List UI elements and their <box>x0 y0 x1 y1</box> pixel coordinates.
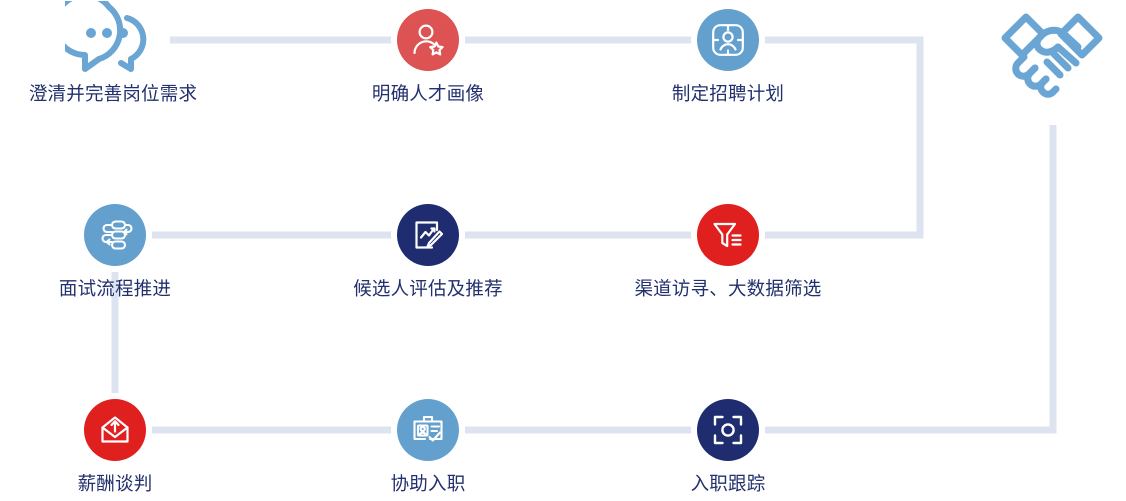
flow-node-label: 候选人评估及推荐 <box>318 278 538 300</box>
id-card-check-icon <box>410 412 446 448</box>
badge-talent-profile <box>391 3 465 77</box>
person-star-icon <box>409 21 447 59</box>
disc-onboarding-tracking <box>697 399 759 461</box>
disc-salary-negotiation <box>84 399 146 461</box>
badge-interview-process <box>78 198 152 272</box>
focus-target-icon <box>710 412 746 448</box>
chat-bubbles-icon <box>65 1 161 79</box>
flow-node-label: 协助入职 <box>318 473 538 495</box>
badge-candidate-evaluation <box>391 198 465 272</box>
badge-onboarding-tracking <box>691 393 765 467</box>
flow-node-label: 明确人才画像 <box>318 83 538 105</box>
flow-node-label: 渠道访寻、大数据筛选 <box>618 278 838 300</box>
person-frame-icon <box>710 22 746 58</box>
disc-recruiting-plan <box>697 9 759 71</box>
disc-interview-process <box>84 204 146 266</box>
flow-node-onboarding-assist[interactable]: 协助入职 <box>318 393 538 495</box>
badge-salary-negotiation <box>78 393 152 467</box>
flow-node-salary-negotiation[interactable]: 薪酬谈判 <box>5 393 225 495</box>
badge-onboarding-assist <box>391 393 465 467</box>
recruitment-flow-diagram: 澄清并完善岗位需求 明确人才画像 <box>0 0 1126 501</box>
badge-clarify-requirements <box>76 3 150 77</box>
flow-node-label: 制定招聘计划 <box>618 83 838 105</box>
process-flow-icon <box>97 217 133 253</box>
envelope-up-icon <box>97 412 133 448</box>
flow-node-recruiting-plan[interactable]: 制定招聘计划 <box>618 3 838 105</box>
handshake-icon <box>988 5 1116 101</box>
document-pen-icon <box>410 217 446 253</box>
flow-node-label: 入职跟踪 <box>618 473 838 495</box>
handshake-decoration <box>988 5 1116 106</box>
flow-node-talent-profile[interactable]: 明确人才画像 <box>318 3 538 105</box>
disc-candidate-evaluation <box>397 204 459 266</box>
flow-node-channel-sourcing[interactable]: 渠道访寻、大数据筛选 <box>618 198 838 300</box>
flow-node-label: 澄清并完善岗位需求 <box>3 83 223 105</box>
flow-node-label: 面试流程推进 <box>5 278 225 300</box>
badge-recruiting-plan <box>691 3 765 77</box>
flow-node-clarify-requirements[interactable]: 澄清并完善岗位需求 <box>3 3 223 105</box>
badge-channel-sourcing <box>691 198 765 272</box>
flow-node-onboarding-tracking[interactable]: 入职跟踪 <box>618 393 838 495</box>
disc-talent-profile <box>397 9 459 71</box>
disc-onboarding-assist <box>397 399 459 461</box>
flow-node-candidate-evaluation[interactable]: 候选人评估及推荐 <box>318 198 538 300</box>
funnel-filter-icon <box>710 217 746 253</box>
disc-clarify-requirements <box>65 1 161 79</box>
flow-node-interview-process[interactable]: 面试流程推进 <box>5 198 225 300</box>
flow-node-label: 薪酬谈判 <box>5 473 225 495</box>
disc-channel-sourcing <box>697 204 759 266</box>
